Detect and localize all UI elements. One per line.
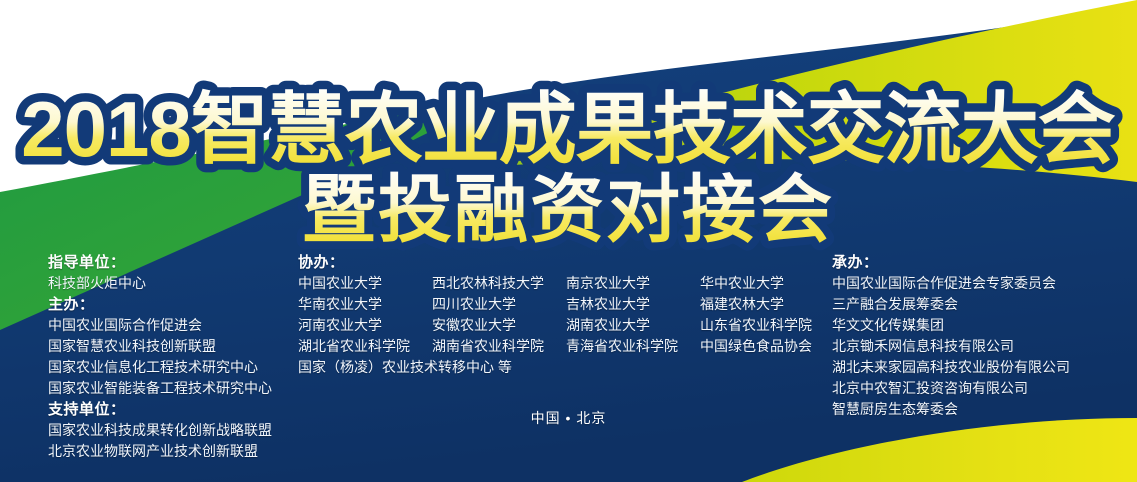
coorganizer-row: 湖北省农业科学院 湖南省农业科学院 青海省农业科学院 中国绿色食品协会 [298, 336, 840, 357]
guidance-header: 指导单位： [48, 252, 272, 273]
coorganizer-header: 协办： [298, 252, 840, 273]
coorganizer-item: 吉林农业大学 [566, 294, 700, 315]
host-item: 国家农业智能装备工程技术研究中心 [48, 378, 272, 399]
host-item: 国家智慧农业科技创新联盟 [48, 336, 272, 357]
host-item: 国家农业信息化工程技术研究中心 [48, 357, 272, 378]
credits-column-right: 承办： 中国农业国际合作促进会专家委员会 三产融合发展筹委会 华文文化传媒集团 … [832, 252, 1070, 420]
organizer-header: 承办： [832, 252, 1070, 273]
venue-label: 中国 • 北京 [0, 408, 1137, 428]
coorganizer-item: 山东省农业科学院 [700, 315, 840, 336]
credits-column-left: 指导单位： 科技部火炬中心 主办： 中国农业国际合作促进会 国家智慧农业科技创新… [48, 252, 272, 462]
coorganizer-row: 华南农业大学 四川农业大学 吉林农业大学 福建农林大学 [298, 294, 840, 315]
credits-column-middle: 协办： 中国农业大学 西北农林科技大学 南京农业大学 华中农业大学 华南农业大学… [298, 252, 840, 378]
conference-banner: 2018智慧农业成果技术交流大会 2018智慧农业成果技术交流大会 暨投融资对接… [0, 0, 1137, 482]
coorganizer-item: 湖南省农业科学院 [432, 336, 566, 357]
coorganizer-item: 福建农林大学 [700, 294, 840, 315]
coorganizer-item: 西北农林科技大学 [432, 273, 566, 294]
guidance-item: 科技部火炬中心 [48, 273, 272, 294]
organizer-item: 北京锄禾网信息科技有限公司 [832, 336, 1070, 357]
organizer-item: 华文文化传媒集团 [832, 315, 1070, 336]
organizer-item: 湖北未来家园高科技农业股份有限公司 [832, 357, 1070, 378]
coorganizer-item: 南京农业大学 [566, 273, 700, 294]
coorganizer-item: 河南农业大学 [298, 315, 432, 336]
organizer-item: 三产融合发展筹委会 [832, 294, 1070, 315]
support-item: 北京农业物联网产业技术创新联盟 [48, 441, 272, 462]
coorganizer-item: 中国农业大学 [298, 273, 432, 294]
host-item: 中国农业国际合作促进会 [48, 315, 272, 336]
coorganizer-item: 国家（杨凌）农业技术转移中心 等 [298, 357, 512, 378]
coorganizer-item: 中国绿色食品协会 [700, 336, 840, 357]
coorganizer-row-last: 国家（杨凌）农业技术转移中心 等 [298, 357, 840, 378]
coorganizer-item: 华中农业大学 [700, 273, 840, 294]
organizer-item: 北京中农智汇投资咨询有限公司 [832, 378, 1070, 399]
coorganizer-item: 安徽农业大学 [432, 315, 566, 336]
coorganizer-row: 中国农业大学 西北农林科技大学 南京农业大学 华中农业大学 [298, 273, 840, 294]
coorganizer-item: 四川农业大学 [432, 294, 566, 315]
coorganizer-item: 华南农业大学 [298, 294, 432, 315]
coorganizer-row: 河南农业大学 安徽农业大学 湖南农业大学 山东省农业科学院 [298, 315, 840, 336]
host-header: 主办： [48, 294, 272, 315]
credits-section: 指导单位： 科技部火炬中心 主办： 中国农业国际合作促进会 国家智慧农业科技创新… [0, 252, 1137, 452]
coorganizer-item: 湖北省农业科学院 [298, 336, 432, 357]
coorganizer-item: 湖南农业大学 [566, 315, 700, 336]
coorganizer-item: 青海省农业科学院 [566, 336, 700, 357]
organizer-item: 中国农业国际合作促进会专家委员会 [832, 273, 1070, 294]
